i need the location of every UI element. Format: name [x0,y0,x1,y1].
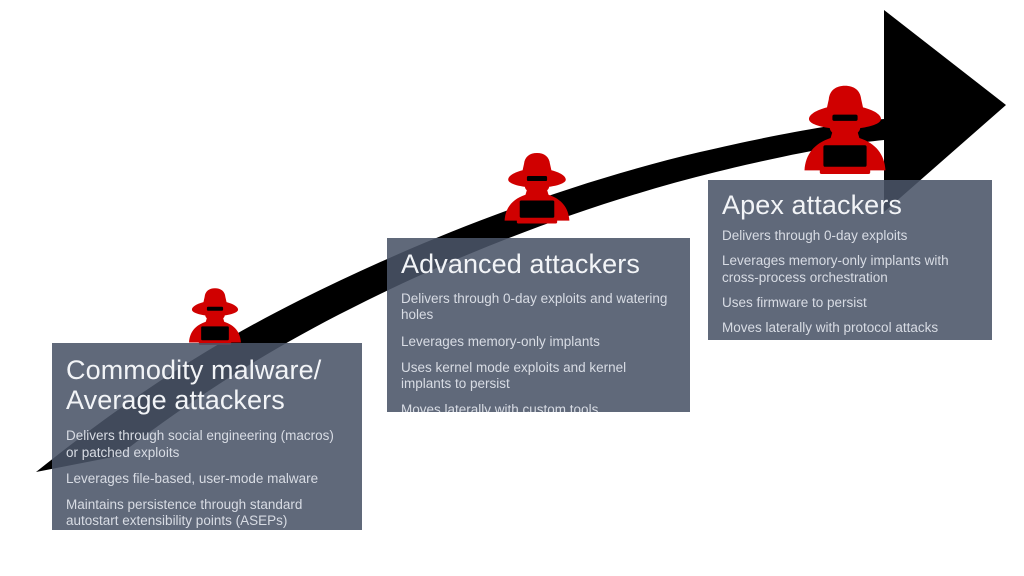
card-bullets-apex: Delivers through 0-day exploits Leverage… [722,228,978,336]
laptop-base-icon [820,169,870,174]
hacker-figure-large [805,86,886,174]
bullet-item: Delivers through 0-day exploits and wate… [401,291,676,323]
card-bullets-commodity: Delivers through social engineering (mac… [66,428,346,529]
laptop-screen-icon [201,326,229,340]
card-title-apex: Apex attackers [722,190,978,220]
bullet-item: Leverages file-based, user-mode malware [66,471,346,487]
sunglasses-icon [207,307,223,311]
stage-card-advanced[interactable]: Advanced attackers Delivers through 0-da… [387,238,690,412]
laptop-screen-icon [823,145,866,167]
card-title-line-1: Commodity malware/ [66,355,321,385]
attacker-icon-commodity [186,286,244,346]
bullet-item: Delivers through 0-day exploits [722,228,978,244]
bullet-item: Maintains persistence through standard a… [66,497,346,529]
slide-canvas: Commodity malware/ Average attackers Del… [0,0,1024,576]
bullet-item: Moves laterally with protocol attacks [722,320,978,336]
sunglasses-icon [527,176,547,181]
bullet-item: Delivers through social engineering (mac… [66,428,346,460]
card-title-commodity: Commodity malware/ Average attackers [66,355,346,415]
bullet-item: Uses firmware to persist [722,295,978,311]
bullet-item: Leverages memory-only implants [401,334,676,350]
hacker-figure-small [189,288,241,345]
card-title-line-2: Average attackers [66,385,285,415]
sunglasses-icon [832,115,857,121]
card-bullets-advanced: Delivers through 0-day exploits and wate… [401,291,676,412]
attacker-icon-advanced [501,150,573,225]
hacker-figure-medium [505,153,570,224]
bullet-item: Uses kernel mode exploits and kernel imp… [401,360,676,392]
laptop-screen-icon [520,200,555,217]
attacker-icon-apex [800,82,890,176]
stage-card-commodity[interactable]: Commodity malware/ Average attackers Del… [52,343,362,530]
stage-card-apex[interactable]: Apex attackers Delivers through 0-day ex… [708,180,992,340]
card-title-advanced: Advanced attackers [401,249,676,279]
bullet-item: Leverages memory-only implants with cros… [722,253,978,285]
bullet-item: Moves laterally with custom tools [401,402,676,412]
laptop-base-icon [517,219,557,223]
